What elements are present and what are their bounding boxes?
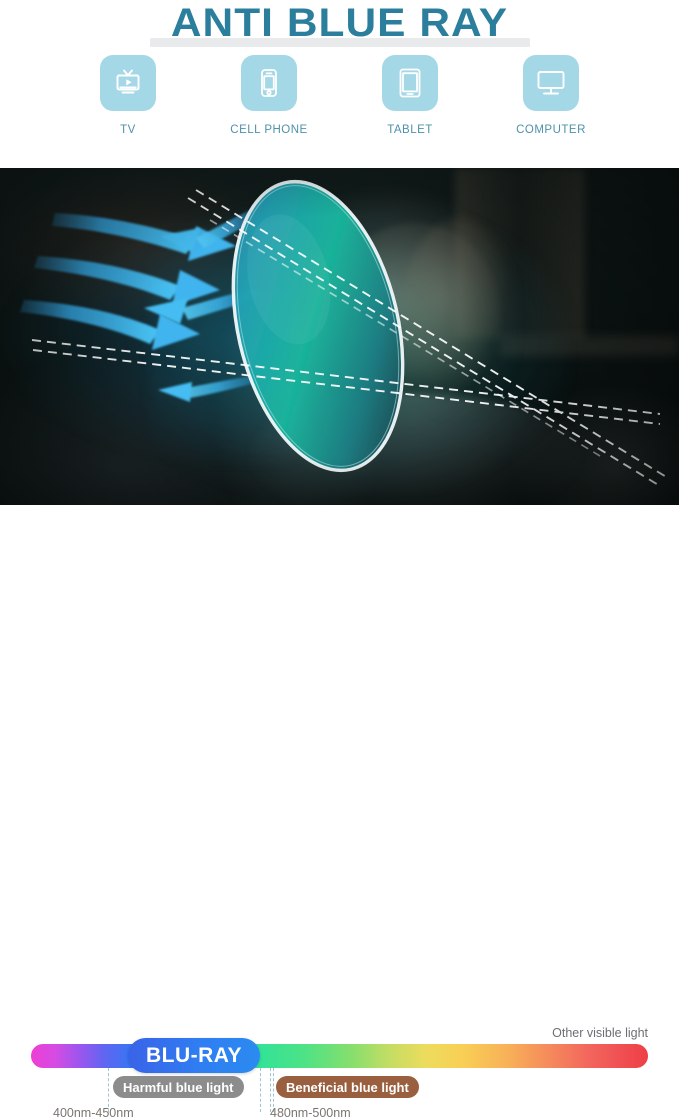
tv-icon — [111, 66, 145, 100]
tablet-tile — [382, 55, 438, 111]
bluray-badge: BLU-RAY — [128, 1038, 260, 1073]
computer-tile — [523, 55, 579, 111]
device-label-tv: TV — [120, 124, 136, 136]
device-item-computer: COMPUTER — [511, 55, 591, 136]
harmful-range-label: 400nm-450nm — [53, 1106, 134, 1120]
device-item-tablet: TABLET — [370, 55, 450, 136]
device-list: TV CELL PHONE — [0, 55, 679, 136]
cell-phone-icon — [252, 66, 286, 100]
spectrum-section: Other visible light BLU-RAY Harmful blue… — [0, 505, 679, 621]
beneficial-blue-light-badge: Beneficial blue light — [276, 1076, 419, 1098]
device-label-cell-phone: CELL PHONE — [230, 124, 307, 136]
device-item-tv: TV — [88, 55, 168, 136]
beneficial-range-label: 480nm-500nm — [270, 1106, 351, 1120]
harmful-blue-light-badge: Harmful blue light — [113, 1076, 244, 1098]
visible-spectrum-bar — [31, 1044, 648, 1068]
tv-tile — [100, 55, 156, 111]
photo-vignette — [0, 168, 679, 505]
lens-photo-section: Harmful Blue Light Beneficial Blue Light… — [0, 168, 679, 505]
spectrum-marker-450nm — [260, 1068, 261, 1112]
tablet-icon — [393, 66, 427, 100]
cell-phone-tile — [241, 55, 297, 111]
device-item-cell-phone: CELL PHONE — [229, 55, 309, 136]
title-wrap: ANTI BLUE RAY — [0, 0, 679, 52]
header-section: ANTI BLUE RAY TV — [0, 0, 679, 168]
page-title: ANTI BLUE RAY — [0, 0, 679, 46]
other-visible-light-label: Other visible light — [552, 1026, 648, 1040]
anti-blue-ray-infographic: ANTI BLUE RAY TV — [0, 0, 679, 621]
device-label-computer: COMPUTER — [516, 124, 586, 136]
computer-icon — [534, 66, 568, 100]
device-label-tablet: TABLET — [387, 124, 433, 136]
